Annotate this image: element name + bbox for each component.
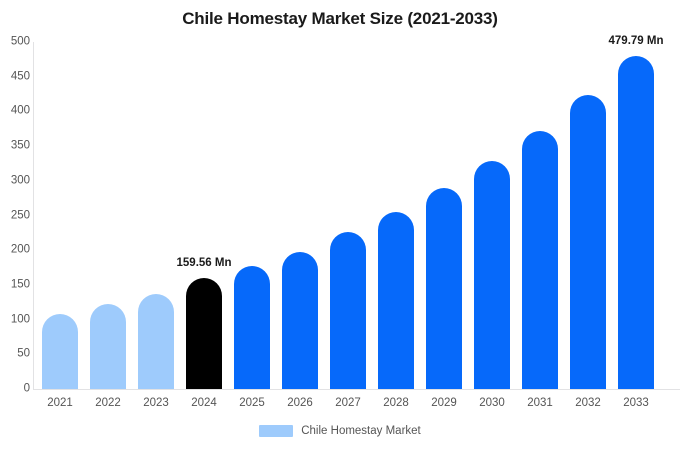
- y-axis-tick-label: 300: [2, 175, 30, 187]
- plot-area: [33, 42, 680, 389]
- bar-slot: [330, 42, 366, 389]
- bar-2027[interactable]: [330, 232, 366, 389]
- bar-2030[interactable]: [474, 161, 510, 389]
- bar-slot: [474, 42, 510, 389]
- x-axis-tick-label: 2032: [564, 397, 612, 409]
- y-axis-tick-label: 200: [2, 244, 30, 256]
- x-axis-tick-label: 2021: [36, 397, 84, 409]
- x-axis-tick-label: 2033: [612, 397, 660, 409]
- y-axis-tick-labels: 050100150200250300350400450500: [0, 0, 30, 450]
- value-label-2033: 479.79 Mn: [609, 35, 664, 47]
- bar-2032[interactable]: [570, 95, 606, 389]
- bar-2028[interactable]: [378, 212, 414, 389]
- bar-slot: [282, 42, 318, 389]
- bar-2029[interactable]: [426, 188, 462, 389]
- bar-slot: [234, 42, 270, 389]
- bar-slot: [618, 42, 654, 389]
- y-axis-tick-label: 100: [2, 314, 30, 326]
- x-axis-tick-label: 2028: [372, 397, 420, 409]
- bar-2023[interactable]: [138, 294, 174, 389]
- bar-2021[interactable]: [42, 314, 78, 389]
- y-axis-tick-label: 400: [2, 106, 30, 118]
- x-axis-tick-label: 2024: [180, 397, 228, 409]
- y-axis-tick-label: 250: [2, 210, 30, 222]
- bar-slot: [42, 42, 78, 389]
- bar-slot: [138, 42, 174, 389]
- x-axis-tick-label: 2031: [516, 397, 564, 409]
- x-axis-tick-label: 2027: [324, 397, 372, 409]
- y-axis-tick-label: 350: [2, 140, 30, 152]
- x-axis-tick-label: 2023: [132, 397, 180, 409]
- y-axis-tick-label: 50: [2, 349, 30, 361]
- y-axis-tick-label: 150: [2, 279, 30, 291]
- bar-slot: [90, 42, 126, 389]
- bar-slot: [186, 42, 222, 389]
- x-axis-tick-label: 2022: [84, 397, 132, 409]
- chart-title: Chile Homestay Market Size (2021-2033): [0, 9, 680, 29]
- y-axis-tick-label: 0: [2, 383, 30, 395]
- y-axis-tick-label: 450: [2, 71, 30, 83]
- legend-item-label: Chile Homestay Market: [301, 425, 421, 437]
- bar-chart: Chile Homestay Market Size (2021-2033) 0…: [0, 0, 680, 450]
- bar-slot: [426, 42, 462, 389]
- bar-slot: [378, 42, 414, 389]
- bar-2022[interactable]: [90, 304, 126, 389]
- x-axis-line: [33, 389, 680, 390]
- x-axis-tick-label: 2025: [228, 397, 276, 409]
- bar-slot: [570, 42, 606, 389]
- bar-2031[interactable]: [522, 131, 558, 389]
- bar-2025[interactable]: [234, 266, 270, 389]
- chart-legend: Chile Homestay Market: [0, 425, 680, 437]
- x-axis-tick-label: 2030: [468, 397, 516, 409]
- x-axis-tick-label: 2029: [420, 397, 468, 409]
- legend-swatch-icon: [259, 425, 293, 437]
- bar-slot: [522, 42, 558, 389]
- bar-2033[interactable]: [618, 56, 654, 389]
- bar-2024[interactable]: [186, 278, 222, 389]
- bar-2026[interactable]: [282, 252, 318, 389]
- y-axis-tick-label: 500: [2, 36, 30, 48]
- value-label-2024: 159.56 Mn: [177, 257, 232, 269]
- x-axis-tick-label: 2026: [276, 397, 324, 409]
- legend-item-chile-homestay-market[interactable]: Chile Homestay Market: [259, 425, 421, 437]
